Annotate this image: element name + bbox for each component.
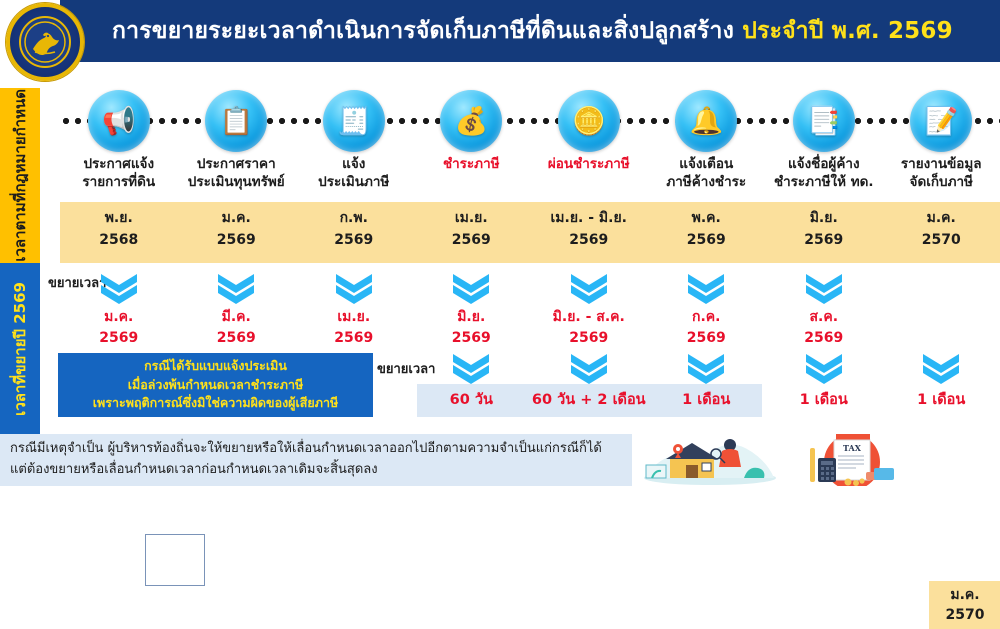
special-case-note-line3: เพราะพฤติการณ์ซึ่งมิใช่ความผิดของผู้เสีย… <box>93 394 338 413</box>
duration-chevron-4 <box>802 352 846 386</box>
timeline-track: 📢📋🧾💰🪙🔔📑📝 <box>60 90 1000 152</box>
statutory-date-year: 2568 <box>56 230 182 252</box>
extended-final-chip-month: ม.ค. <box>950 585 979 605</box>
timeline-label-line1: แจ้งเตือน <box>643 155 769 173</box>
extended-date-6: ก.ค.2569 <box>643 307 769 349</box>
statutory-date-month: พ.ค. <box>643 208 769 230</box>
extended-date-7: ส.ค.2569 <box>761 307 887 349</box>
tax-calculator-icon: 🧾 <box>337 108 371 135</box>
statutory-date-4: เม.ย.2569 <box>408 208 534 251</box>
special-case-note: กรณีได้รับแบบแจ้งประเมิน เมื่อล่วงพ้นกำห… <box>58 353 373 417</box>
rail-statutory-period: เวลาตามที่กฎหมายกำหนด <box>0 88 40 263</box>
page-title: การขยายระยะเวลาดำเนินการจัดเก็บภาษีที่ดิ… <box>112 20 953 43</box>
statutory-date-year: 2569 <box>643 230 769 252</box>
timeline-label-line2: ประเมินทุนทรัพย์ <box>173 173 299 191</box>
timeline-label-line1: แจ้งชื่อผู้ค้าง <box>761 155 887 173</box>
special-case-note-line1: กรณีได้รับแบบแจ้งประเมิน <box>144 357 287 376</box>
statutory-date-6: พ.ค.2569 <box>643 208 769 251</box>
extension-chevron-2 <box>214 272 258 306</box>
timeline-label-5: ผ่อนชำระภาษี <box>526 155 652 173</box>
timeline-node-4[interactable]: 💰 <box>440 90 502 152</box>
timeline-label-line1: รายงานข้อมูล <box>878 155 1000 173</box>
statutory-date-month: พ.ย. <box>56 208 182 230</box>
statutory-date-year: 2569 <box>291 230 417 252</box>
special-case-note-line2: เมื่อล่วงพ้นกำหนดเวลาชำระภาษี <box>128 376 303 395</box>
timeline-label-line2: ภาษีค้างชำระ <box>643 173 769 191</box>
extended-date-year: 2569 <box>291 328 417 349</box>
extended-date-month: ม.ค. <box>56 307 182 328</box>
extension-chevron-1 <box>97 272 141 306</box>
extended-date-year: 2569 <box>643 328 769 349</box>
extended-date-year: 2569 <box>408 328 534 349</box>
statutory-date-year: 2570 <box>878 230 1000 252</box>
timeline-label-line2: ประเมินภาษี <box>291 173 417 191</box>
statutory-date-year: 2569 <box>173 230 299 252</box>
timeline-node-2[interactable]: 📋 <box>205 90 267 152</box>
extended-date-month: เม.ย. <box>291 307 417 328</box>
statutory-date-1: พ.ย.2568 <box>56 208 182 251</box>
megaphone-icon: 📢 <box>102 108 136 135</box>
house-survey-illustration <box>640 432 780 486</box>
extension-chevron-5 <box>567 272 611 306</box>
timeline-label-1: ประกาศแจ้งรายการที่ดิน <box>56 155 182 191</box>
department-seal-logo <box>6 3 84 81</box>
footer-note: กรณีมีเหตุจำเป็น ผู้บริหารท้องถิ่นจะให้ข… <box>0 434 632 486</box>
timeline-label-line2: ชำระภาษีให้ ทด. <box>761 173 887 191</box>
statutory-date-month: ม.ค. <box>173 208 299 230</box>
extended-date-5: มิ.ย. - ส.ค.2569 <box>526 307 652 349</box>
page-title-year: ประจำปี พ.ศ. 2569 <box>742 18 953 44</box>
timeline-node-5[interactable]: 🪙 <box>558 90 620 152</box>
extended-date-year: 2569 <box>173 328 299 349</box>
duration-chevron-2 <box>567 352 611 386</box>
extended-date-month: มี.ค. <box>173 307 299 328</box>
duration-chevron-5 <box>919 352 963 386</box>
statutory-date-year: 2569 <box>408 230 534 252</box>
timeline-node-7[interactable]: 📑 <box>793 90 855 152</box>
statutory-date-year: 2569 <box>761 230 887 252</box>
statutory-date-month: เม.ย. <box>408 208 534 230</box>
selected-step-highlight-box[interactable] <box>145 534 205 586</box>
timeline-node-6[interactable]: 🔔 <box>675 90 737 152</box>
timeline-label-line2: จัดเก็บภาษี <box>878 173 1000 191</box>
extended-final-chip-year: 2570 <box>946 605 985 625</box>
timeline-label-line1: ผ่อนชำระภาษี <box>526 155 652 173</box>
extended-date-2: มี.ค.2569 <box>173 307 299 349</box>
timeline-label-4: ชำระภาษี <box>408 155 534 173</box>
infographic-root: การขยายระยะเวลาดำเนินการจัดเก็บภาษีที่ดิ… <box>0 0 1000 486</box>
timeline-dotted-line <box>60 118 1000 124</box>
clipboard-person-icon: 📋 <box>219 108 253 135</box>
timeline-label-line1: ชำระภาษี <box>408 155 534 173</box>
coin-drop-hand-icon: 🪙 <box>572 108 606 135</box>
statutory-date-8: ม.ค.2570 <box>878 208 1000 251</box>
extension-chevron-7 <box>802 272 846 306</box>
money-bag-hand-icon: 💰 <box>454 108 488 135</box>
extended-final-chip: ม.ค. 2570 <box>929 581 1000 629</box>
rail-statutory-label: เวลาตามที่กฎหมายกำหนด <box>13 89 28 262</box>
footer-note-line2: แต่ต้องขยายหรือเลื่อนกำหนดเวลาก่อนกำหนดเ… <box>10 460 622 481</box>
duration-chevron-1 <box>449 352 493 386</box>
extended-date-year: 2569 <box>56 328 182 349</box>
extend-word-mid: ขยายเวลา <box>377 358 435 379</box>
header-bar: การขยายระยะเวลาดำเนินการจัดเก็บภาษีที่ดิ… <box>60 0 1000 62</box>
extended-date-month: ก.ค. <box>643 307 769 328</box>
rail-extended-label: เวลาที่ขยายปี 2569 <box>13 282 28 416</box>
timeline-node-8[interactable]: 📝 <box>910 90 972 152</box>
statutory-date-2: ม.ค.2569 <box>173 208 299 251</box>
statutory-date-month: มิ.ย. <box>761 208 887 230</box>
extended-date-4: มิ.ย.2569 <box>408 307 534 349</box>
extended-date-year: 2569 <box>526 328 652 349</box>
timeline-label-8: รายงานข้อมูลจัดเก็บภาษี <box>878 155 1000 191</box>
page-title-main: การขยายระยะเวลาดำเนินการจัดเก็บภาษีที่ดิ… <box>112 18 734 44</box>
extended-date-3: เม.ย.2569 <box>291 307 417 349</box>
extended-date-month: มิ.ย. <box>408 307 534 328</box>
timeline-node-3[interactable]: 🧾 <box>323 90 385 152</box>
timeline-label-line1: ประกาศแจ้ง <box>56 155 182 173</box>
timeline-label-line2: รายการที่ดิน <box>56 173 182 191</box>
statutory-date-month: ม.ค. <box>878 208 1000 230</box>
statutory-date-month: ก.พ. <box>291 208 417 230</box>
timeline-label-2: ประกาศราคาประเมินทุนทรัพย์ <box>173 155 299 191</box>
extended-date-1: ม.ค.2569 <box>56 307 182 349</box>
duration-label-5: 1 เดือน <box>871 388 1000 411</box>
timeline-label-line1: แจ้ง <box>291 155 417 173</box>
checklist-clipboard-icon: 📝 <box>924 108 958 135</box>
extension-chevron-3 <box>332 272 376 306</box>
timeline-label-6: แจ้งเตือนภาษีค้างชำระ <box>643 155 769 191</box>
statutory-date-month: เม.ย. - มิ.ย. <box>526 208 652 230</box>
extended-date-month: ส.ค. <box>761 307 887 328</box>
rail-extended-period: เวลาที่ขยายปี 2569 <box>0 263 40 435</box>
timeline-label-3: แจ้งประเมินภาษี <box>291 155 417 191</box>
extension-chevron-6 <box>684 272 728 306</box>
statutory-date-7: มิ.ย.2569 <box>761 208 887 251</box>
footer-note-line1: กรณีมีเหตุจำเป็น ผู้บริหารท้องถิ่นจะให้ข… <box>10 439 622 460</box>
timeline-label-line1: ประกาศราคา <box>173 155 299 173</box>
timeline-node-1[interactable]: 📢 <box>88 90 150 152</box>
timeline-labels: ประกาศแจ้งรายการที่ดินประกาศราคาประเมินท… <box>60 155 1000 201</box>
tax-document-illustration: TAX <box>790 432 920 486</box>
extension-chevron-4 <box>449 272 493 306</box>
svg-text:TAX: TAX <box>843 443 862 453</box>
statutory-date-year: 2569 <box>526 230 652 252</box>
extended-date-year: 2569 <box>761 328 887 349</box>
duration-chevron-3 <box>684 352 728 386</box>
extended-date-month: มิ.ย. - ส.ค. <box>526 307 652 328</box>
statutory-date-band: พ.ย.2568ม.ค.2569ก.พ.2569เม.ย.2569เม.ย. -… <box>60 202 1000 263</box>
statutory-date-3: ก.พ.2569 <box>291 208 417 251</box>
statutory-date-5: เม.ย. - มิ.ย.2569 <box>526 208 652 251</box>
tax-report-icon: 📑 <box>807 108 841 135</box>
alert-bell-icon: 🔔 <box>689 108 723 135</box>
timeline-label-7: แจ้งชื่อผู้ค้างชำระภาษีให้ ทด. <box>761 155 887 191</box>
